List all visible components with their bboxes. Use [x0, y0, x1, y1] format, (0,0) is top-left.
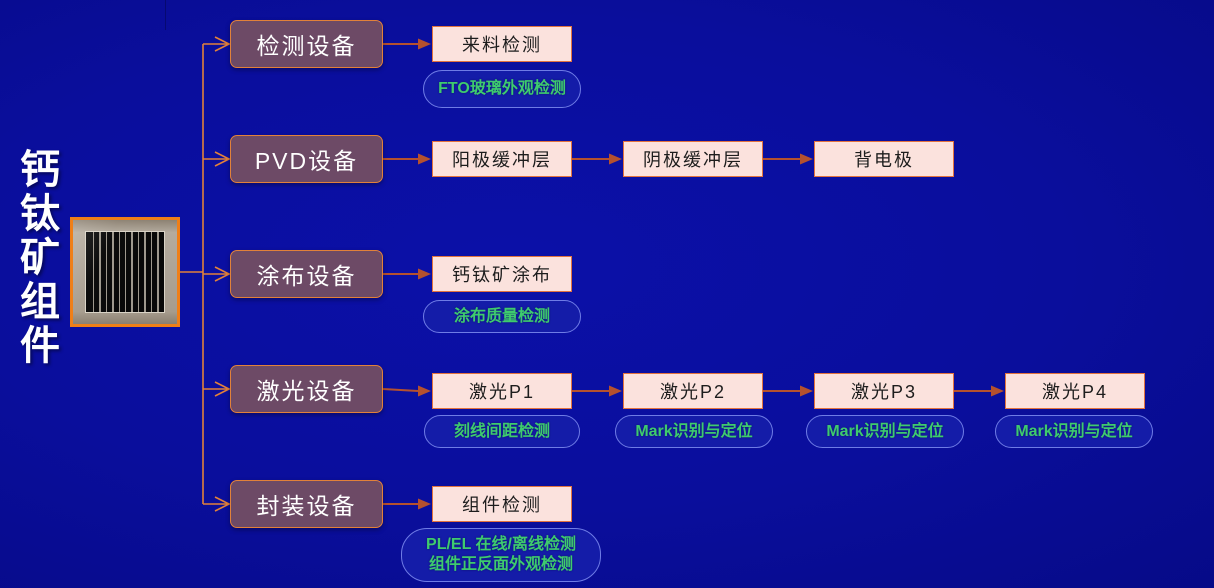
inspection-badge-line: 刻线间距检测 — [454, 422, 550, 442]
perovskite-module-photo — [70, 217, 180, 327]
module-scribe-line — [144, 232, 146, 311]
inspection-badge[interactable]: Mark识别与定位 — [806, 415, 964, 448]
process-step-box[interactable]: 激光P2 — [623, 373, 763, 409]
process-step-box[interactable]: 钙钛矿涂布 — [432, 256, 572, 292]
module-scribe-line — [131, 232, 133, 311]
module-scribe-line — [99, 232, 101, 311]
inspection-badge[interactable]: 刻线间距检测 — [424, 415, 580, 448]
inspection-badge-line: 组件正反面外观检测 — [429, 555, 573, 575]
connector-lines — [0, 0, 1214, 588]
title-char: 件 — [10, 324, 70, 368]
process-step-box[interactable]: 来料检测 — [432, 26, 572, 62]
module-scribe-line — [138, 232, 140, 311]
title-char: 矿 — [10, 236, 70, 280]
title-char: 组 — [10, 280, 70, 324]
equipment-box[interactable]: 涂布设备 — [230, 250, 383, 298]
equipment-box[interactable]: 封装设备 — [230, 480, 383, 528]
inspection-badge[interactable]: Mark识别与定位 — [615, 415, 773, 448]
title-char: 钛 — [10, 192, 70, 236]
process-step-box[interactable]: 激光P3 — [814, 373, 954, 409]
equipment-box[interactable]: 检测设备 — [230, 20, 383, 68]
module-scribe-line — [151, 232, 153, 311]
equipment-box[interactable]: 激光设备 — [230, 365, 383, 413]
inspection-badge-line: 涂布质量检测 — [454, 307, 550, 327]
module-scribe-line — [125, 232, 127, 311]
inspection-badge[interactable]: 涂布质量检测 — [423, 300, 581, 333]
equipment-box[interactable]: PVD设备 — [230, 135, 383, 183]
process-step-box[interactable]: 阳极缓冲层 — [432, 141, 572, 177]
inspection-badge-line: FTO玻璃外观检测 — [438, 79, 566, 99]
inspection-badge-line: PL/EL 在线/离线检测 — [426, 535, 576, 555]
title-char: 钙 — [10, 148, 70, 192]
inspection-badge-line: Mark识别与定位 — [635, 422, 752, 442]
inspection-badge-line: Mark识别与定位 — [1015, 422, 1132, 442]
module-scribe-line — [106, 232, 108, 311]
process-step-box[interactable]: 组件检测 — [432, 486, 572, 522]
module-cell-area — [85, 231, 164, 312]
module-scribe-line — [157, 232, 159, 311]
inspection-badge[interactable]: PL/EL 在线/离线检测组件正反面外观检测 — [401, 528, 601, 582]
process-step-box[interactable]: 激光P1 — [432, 373, 572, 409]
inspection-badge[interactable]: Mark识别与定位 — [995, 415, 1153, 448]
module-scribe-line — [112, 232, 114, 311]
inspection-badge-line: Mark识别与定位 — [826, 422, 943, 442]
process-step-box[interactable]: 激光P4 — [1005, 373, 1145, 409]
module-scribe-line — [119, 232, 121, 311]
flow-diagram-canvas: 钙 钛 矿 组 件 检测设备PVD设备涂布设备激光设备封装设备来料检测阳极缓冲层… — [0, 0, 1214, 588]
inspection-badge[interactable]: FTO玻璃外观检测 — [423, 70, 581, 108]
process-step-box[interactable]: 背电极 — [814, 141, 954, 177]
background-artifact-line — [165, 0, 166, 30]
process-step-box[interactable]: 阴极缓冲层 — [623, 141, 763, 177]
page-title: 钙 钛 矿 组 件 — [10, 148, 70, 368]
module-scribe-line — [93, 232, 95, 311]
